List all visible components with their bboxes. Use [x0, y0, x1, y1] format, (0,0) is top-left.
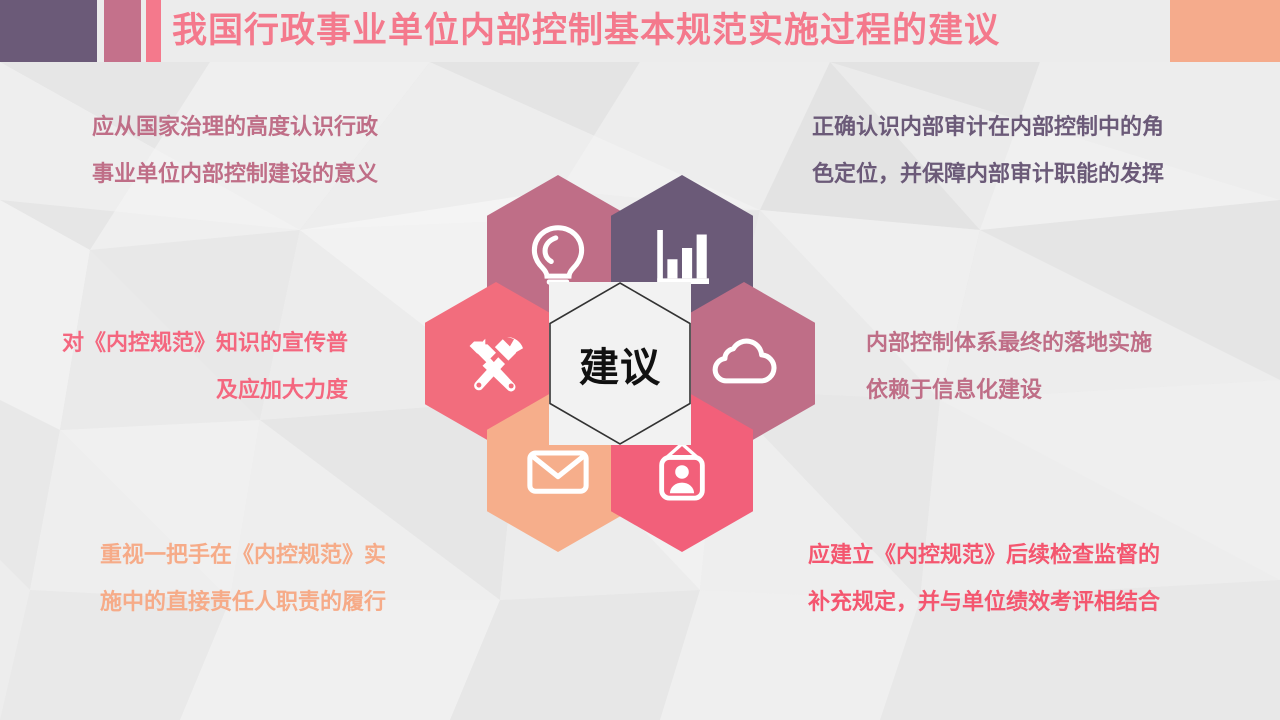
callout-middle-right: 内部控制体系最终的落地实施 依赖于信息化建设	[866, 320, 1152, 414]
header-accent-bar-rose	[104, 0, 141, 62]
id-badge-icon	[651, 440, 713, 502]
callout-bottom-right: 应建立《内控规范》后续检查监督的 补充规定，并与单位绩效考评相结合	[808, 532, 1160, 626]
callout-top-right: 正确认识内部审计在内部控制中的角 色定位，并保障内部审计职能的发挥	[812, 104, 1164, 198]
hexagon-center-label: 建议	[579, 335, 661, 393]
header-accent-bar-purple	[0, 0, 97, 62]
callout-middle-left: 对《内控规范》知识的宣传普 及应加大力度	[62, 320, 348, 414]
callout-top-right-line2: 色定位，并保障内部审计职能的发挥	[812, 151, 1164, 198]
hexagon-center[interactable]: 建议	[549, 282, 691, 445]
callout-bottom-right-line2: 补充规定，并与单位绩效考评相结合	[808, 579, 1160, 626]
callout-top-left-line1: 应从国家治理的高度认识行政	[92, 104, 378, 151]
callout-middle-right-line1: 内部控制体系最终的落地实施	[866, 320, 1152, 367]
callout-middle-left-line2: 及应加大力度	[62, 367, 348, 414]
header-accent-bar-orange	[1170, 0, 1280, 62]
callout-middle-left-line1: 对《内控规范》知识的宣传普	[62, 320, 348, 367]
callout-middle-right-line2: 依赖于信息化建设	[866, 367, 1152, 414]
callout-bottom-right-line1: 应建立《内控规范》后续检查监督的	[808, 532, 1160, 579]
slide-canvas: 我国行政事业单位内部控制基本规范实施过程的建议 应从国家治理的高度认识行政 事业…	[0, 0, 1280, 720]
cloud-icon	[708, 328, 780, 400]
header-accent-bar-pink	[146, 0, 161, 62]
header: 我国行政事业单位内部控制基本规范实施过程的建议	[0, 0, 1280, 62]
envelope-icon	[522, 435, 594, 507]
callout-bottom-left-line2: 施中的直接责任人职责的履行	[100, 579, 386, 626]
tools-icon	[460, 328, 532, 400]
callout-bottom-left: 重视一把手在《内控规范》实 施中的直接责任人职责的履行	[100, 532, 386, 626]
page-title: 我国行政事业单位内部控制基本规范实施过程的建议	[172, 0, 1000, 62]
callout-top-right-line1: 正确认识内部审计在内部控制中的角	[812, 104, 1164, 151]
callout-bottom-left-line1: 重视一把手在《内控规范》实	[100, 532, 386, 579]
callout-top-left: 应从国家治理的高度认识行政 事业单位内部控制建设的意义	[92, 104, 378, 198]
callout-top-left-line2: 事业单位内部控制建设的意义	[92, 151, 378, 198]
hexagon-cluster: 建议	[415, 175, 785, 535]
